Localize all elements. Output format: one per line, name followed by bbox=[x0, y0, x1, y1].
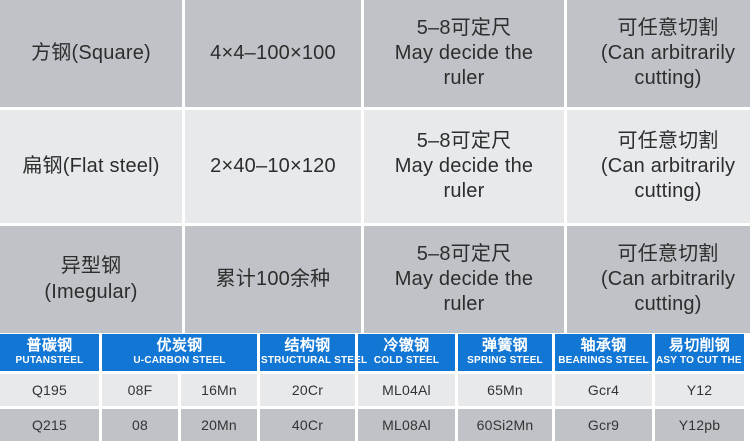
spec-cutting-line-2: (Can arbitrarily bbox=[569, 154, 750, 179]
grade-cell: 20Cr bbox=[260, 374, 355, 406]
specification-table-body: 方钢(Square) 4×4–100×100 5–8可定尺 May decide… bbox=[0, 0, 750, 333]
grade-header-en: SPRING STEEL bbox=[459, 355, 551, 367]
grade-header-structural-steel: 结构钢 STRUCTURAL STEEL bbox=[260, 334, 355, 371]
grade-header-cn: 结构钢 bbox=[261, 337, 354, 354]
grade-cell: 40Cr bbox=[260, 409, 355, 441]
spec-cutting-line-1: 可任意切割 bbox=[569, 129, 750, 154]
spec-length-line-1: 5–8可定尺 bbox=[366, 129, 562, 154]
grade-cell: Q195 bbox=[0, 374, 99, 406]
grade-header-cn: 优炭钢 bbox=[103, 337, 256, 354]
grade-header-u-carbon-steel: 优炭钢 U-CARBON STEEL bbox=[102, 334, 257, 371]
table-row: Q215 08 20Mn 40Cr ML08Al 60Si2Mn Gcr9 Y1… bbox=[0, 409, 744, 441]
steel-grade-table: 普碳钢 PUTANSTEEL 优炭钢 U-CARBON STEEL 结构钢 ST… bbox=[0, 331, 747, 444]
grade-header-cn: 冷镦钢 bbox=[359, 337, 454, 354]
spec-length-line-1: 5–8可定尺 bbox=[366, 16, 562, 41]
grade-cell: 60Si2Mn bbox=[458, 409, 552, 441]
spec-length-line-2: May decide the bbox=[366, 154, 562, 179]
grade-header-putansteel: 普碳钢 PUTANSTEEL bbox=[0, 334, 99, 371]
grade-cell: Gcr9 bbox=[555, 409, 652, 441]
spec-product-label-en: (Imegular) bbox=[2, 280, 180, 305]
spec-cutting-cell: 可任意切割 (Can arbitrarily cutting) bbox=[567, 110, 750, 223]
spec-length-cell: 5–8可定尺 May decide the ruler bbox=[364, 110, 564, 223]
grade-header-en: U-CARBON STEEL bbox=[103, 355, 256, 367]
spec-length-cell: 5–8可定尺 May decide the ruler bbox=[364, 0, 564, 107]
spec-cutting-line-3: cutting) bbox=[569, 292, 750, 317]
table-header-row: 普碳钢 PUTANSTEEL 优炭钢 U-CARBON STEEL 结构钢 ST… bbox=[0, 334, 744, 371]
spec-cutting-cell: 可任意切割 (Can arbitrarily cutting) bbox=[567, 0, 750, 107]
spec-length-line-1: 5–8可定尺 bbox=[366, 242, 562, 267]
grade-cell: 65Mn bbox=[458, 374, 552, 406]
grade-cell: 20Mn bbox=[181, 409, 257, 441]
spec-size-label: 4×4–100×100 bbox=[187, 41, 359, 66]
table-row: 异型钢 (Imegular) 累计100余种 5–8可定尺 May decide… bbox=[0, 226, 750, 333]
spec-cutting-cell: 可任意切割 (Can arbitrarily cutting) bbox=[567, 226, 750, 333]
spec-cutting-line-1: 可任意切割 bbox=[569, 242, 750, 267]
spec-length-line-2: May decide the bbox=[366, 41, 562, 66]
spec-product-cell: 异型钢 (Imegular) bbox=[0, 226, 182, 333]
spec-size-cell: 2×40–10×120 bbox=[185, 110, 361, 223]
grade-header-cn: 普碳钢 bbox=[1, 337, 98, 354]
grade-header-en: STRUCTURAL STEEL bbox=[261, 355, 354, 367]
grade-header-cn: 轴承钢 bbox=[556, 337, 651, 354]
spec-size-label: 2×40–10×120 bbox=[187, 154, 359, 179]
grade-header-cold-steel: 冷镦钢 COLD STEEL bbox=[358, 334, 455, 371]
spec-product-label-cn: 异型钢 bbox=[2, 254, 180, 279]
grade-cell: 08F bbox=[102, 374, 178, 406]
grade-cell: Y12pb bbox=[655, 409, 744, 441]
spec-length-cell: 5–8可定尺 May decide the ruler bbox=[364, 226, 564, 333]
spec-product-cell: 扁钢(Flat steel) bbox=[0, 110, 182, 223]
spec-size-label: 累计100余种 bbox=[187, 267, 359, 292]
spec-size-cell: 4×4–100×100 bbox=[185, 0, 361, 107]
spec-cutting-line-3: cutting) bbox=[569, 179, 750, 204]
spec-length-line-2: May decide the bbox=[366, 267, 562, 292]
grade-cell: ML08Al bbox=[358, 409, 455, 441]
table-row: Q195 08F 16Mn 20Cr ML04Al 65Mn Gcr4 Y12 bbox=[0, 374, 744, 406]
table-row: 方钢(Square) 4×4–100×100 5–8可定尺 May decide… bbox=[0, 0, 750, 107]
spec-cutting-line-2: (Can arbitrarily bbox=[569, 267, 750, 292]
grade-cell: Q215 bbox=[0, 409, 99, 441]
grade-cell: 16Mn bbox=[181, 374, 257, 406]
grade-cell: Y12 bbox=[655, 374, 744, 406]
spec-product-label: 扁钢(Flat steel) bbox=[2, 154, 180, 179]
grade-header-en: PUTANSTEEL bbox=[1, 355, 98, 367]
steel-grade-table-body: Q195 08F 16Mn 20Cr ML04Al 65Mn Gcr4 Y12 … bbox=[0, 374, 744, 441]
spec-cutting-line-2: (Can arbitrarily bbox=[569, 41, 750, 66]
spec-length-line-3: ruler bbox=[366, 179, 562, 204]
grade-header-easy-to-cut-steel: 易切削钢 ASY TO CUT THE STEEL bbox=[655, 334, 744, 371]
grade-header-en: BEARINGS STEEL bbox=[556, 355, 651, 367]
grade-cell: Gcr4 bbox=[555, 374, 652, 406]
grade-header-bearings-steel: 轴承钢 BEARINGS STEEL bbox=[555, 334, 652, 371]
grade-cell: ML04Al bbox=[358, 374, 455, 406]
spec-cutting-line-1: 可任意切割 bbox=[569, 16, 750, 41]
steel-grade-section: 普碳钢 PUTANSTEEL 优炭钢 U-CARBON STEEL 结构钢 ST… bbox=[0, 334, 750, 444]
table-row: 扁钢(Flat steel) 2×40–10×120 5–8可定尺 May de… bbox=[0, 110, 750, 223]
spec-size-cell: 累计100余种 bbox=[185, 226, 361, 333]
grade-header-cn: 易切削钢 bbox=[656, 337, 743, 354]
grade-header-en: COLD STEEL bbox=[359, 355, 454, 367]
grade-header-spring-steel: 弹簧钢 SPRING STEEL bbox=[458, 334, 552, 371]
spec-length-line-3: ruler bbox=[366, 66, 562, 91]
steel-grade-table-head: 普碳钢 PUTANSTEEL 优炭钢 U-CARBON STEEL 结构钢 ST… bbox=[0, 334, 744, 371]
grade-header-en: ASY TO CUT THE STEEL bbox=[656, 355, 743, 367]
spec-length-line-3: ruler bbox=[366, 292, 562, 317]
steel-specification-page: 方钢(Square) 4×4–100×100 5–8可定尺 May decide… bbox=[0, 0, 750, 445]
specification-table: 方钢(Square) 4×4–100×100 5–8可定尺 May decide… bbox=[0, 0, 750, 336]
spec-product-label: 方钢(Square) bbox=[2, 41, 180, 66]
grade-cell: 08 bbox=[102, 409, 178, 441]
spec-cutting-line-3: cutting) bbox=[569, 66, 750, 91]
grade-header-cn: 弹簧钢 bbox=[459, 337, 551, 354]
spec-product-cell: 方钢(Square) bbox=[0, 0, 182, 107]
